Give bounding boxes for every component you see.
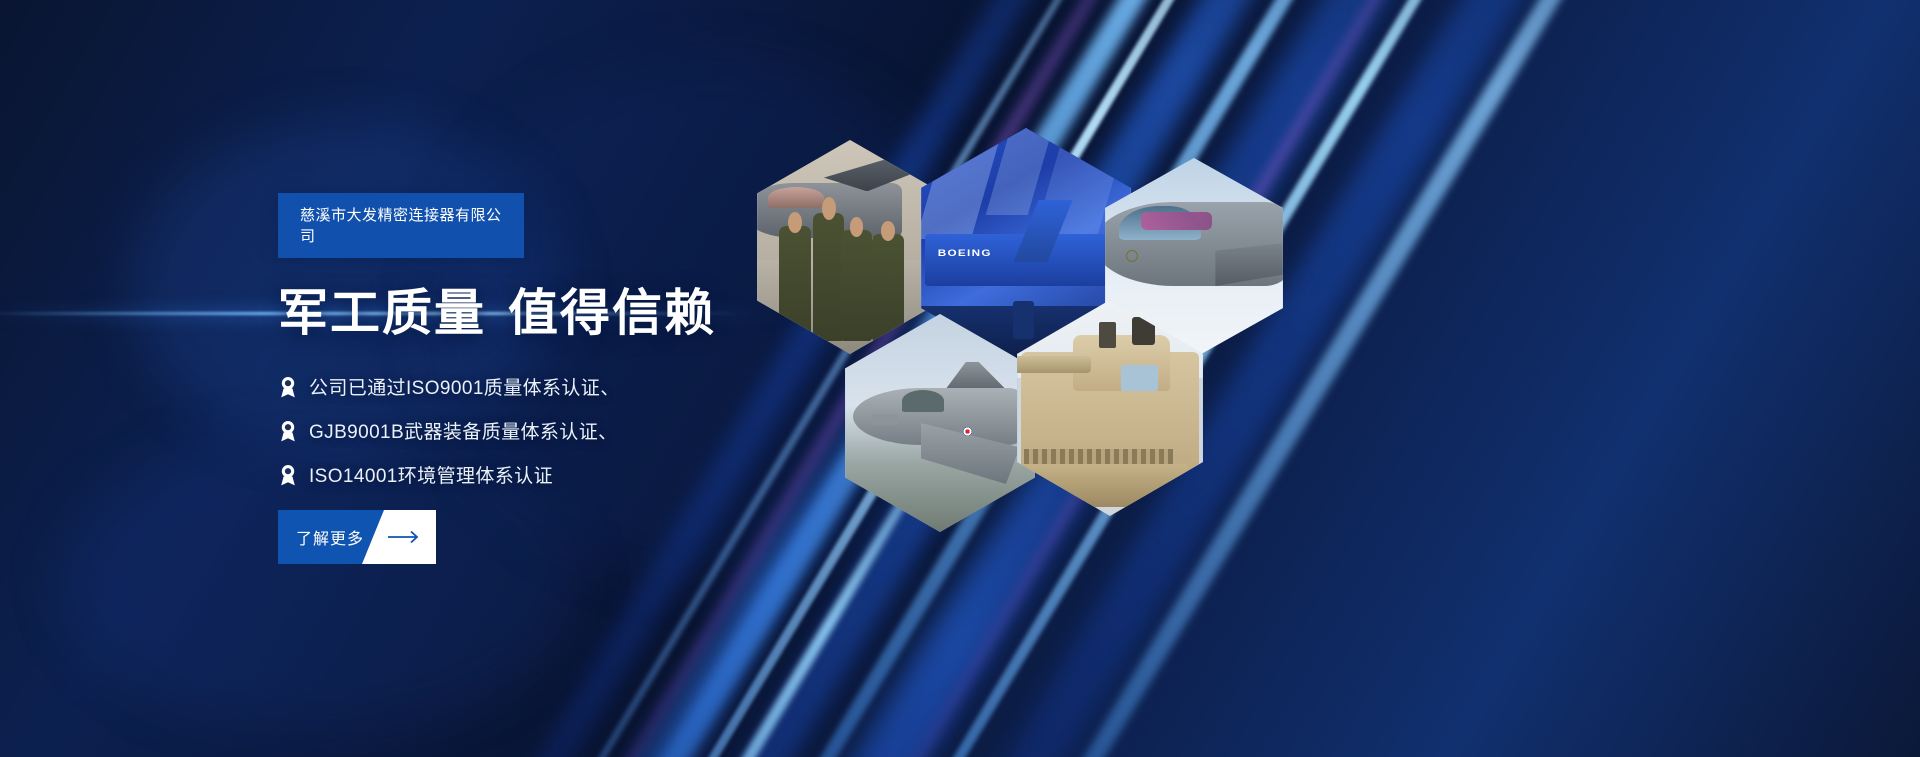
headline-part-1: 军工质量 — [278, 285, 486, 341]
medal-icon — [278, 420, 298, 442]
medal-icon — [278, 376, 298, 398]
list-item-label: 公司已通过ISO9001质量体系认证、 — [309, 373, 620, 400]
learn-more-button[interactable]: 了解更多 — [278, 510, 436, 564]
list-item-label: ISO14001环境管理体系认证 — [309, 461, 553, 488]
fighter-pilots-photo — [757, 140, 943, 354]
list-item-label: GJB9001B武器装备质量体系认证、 — [309, 417, 618, 444]
medal-icon — [278, 464, 298, 486]
hero-banner: 慈溪市大发精密连接器有限公司 军工质量值得信赖 公司已通过ISO9001质量体系… — [0, 0, 1920, 757]
cta-label: 了解更多 — [296, 510, 364, 564]
company-name-badge: 慈溪市大发精密连接器有限公司 — [278, 193, 524, 258]
headline-part-2: 值得信赖 — [508, 285, 716, 341]
arrow-right-icon — [388, 510, 422, 564]
hexagon-image-gallery: BOEING — [745, 128, 1305, 508]
